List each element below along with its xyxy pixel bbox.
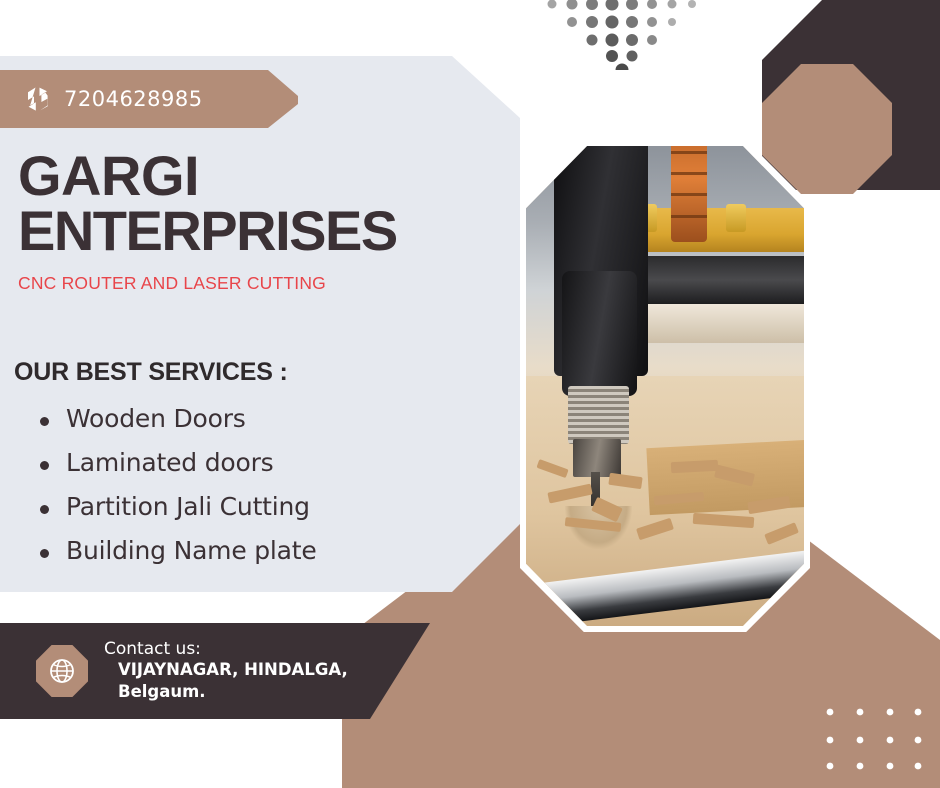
brand-tagline: CNC ROUTER AND LASER CUTTING bbox=[18, 273, 498, 294]
dot-grid-decoration bbox=[826, 708, 922, 770]
services-heading: OUR BEST SERVICES : bbox=[14, 358, 288, 387]
contact-address-line-1: VIJAYNAGAR, HINDALGA, bbox=[104, 659, 348, 681]
list-item: Wooden Doors bbox=[30, 404, 460, 433]
page-title: GARGI ENTERPRISES bbox=[18, 148, 498, 259]
contact-text: Contact us: VIJAYNAGAR, HINDALGA, Belgau… bbox=[104, 639, 348, 704]
globe-badge bbox=[36, 645, 88, 697]
contact-label: Contact us: bbox=[104, 639, 348, 659]
globe-icon bbox=[48, 657, 76, 685]
cnc-router-machine-photo bbox=[526, 146, 804, 626]
flyer-canvas: 7204628985 GARGI ENTERPRISES CNC ROUTER … bbox=[0, 0, 940, 788]
dot-triangle-decoration bbox=[536, 0, 708, 70]
tan-octagon-shape bbox=[762, 64, 892, 194]
brand-line-2: ENTERPRISES bbox=[18, 203, 498, 258]
services-list: Wooden Doors Laminated doors Partition J… bbox=[30, 404, 460, 580]
list-item: Laminated doors bbox=[30, 448, 460, 477]
brand-mark-icon bbox=[26, 86, 50, 112]
brand-headline: GARGI ENTERPRISES CNC ROUTER AND LASER C… bbox=[18, 148, 498, 294]
list-item: Partition Jali Cutting bbox=[30, 492, 460, 521]
brand-line-1: GARGI bbox=[18, 144, 199, 207]
list-item: Building Name plate bbox=[30, 536, 460, 565]
phone-number: 7204628985 bbox=[64, 87, 203, 111]
photo-frame bbox=[520, 140, 810, 632]
contact-address-line-2: Belgaum. bbox=[104, 681, 348, 703]
phone-banner[interactable]: 7204628985 bbox=[0, 70, 298, 128]
